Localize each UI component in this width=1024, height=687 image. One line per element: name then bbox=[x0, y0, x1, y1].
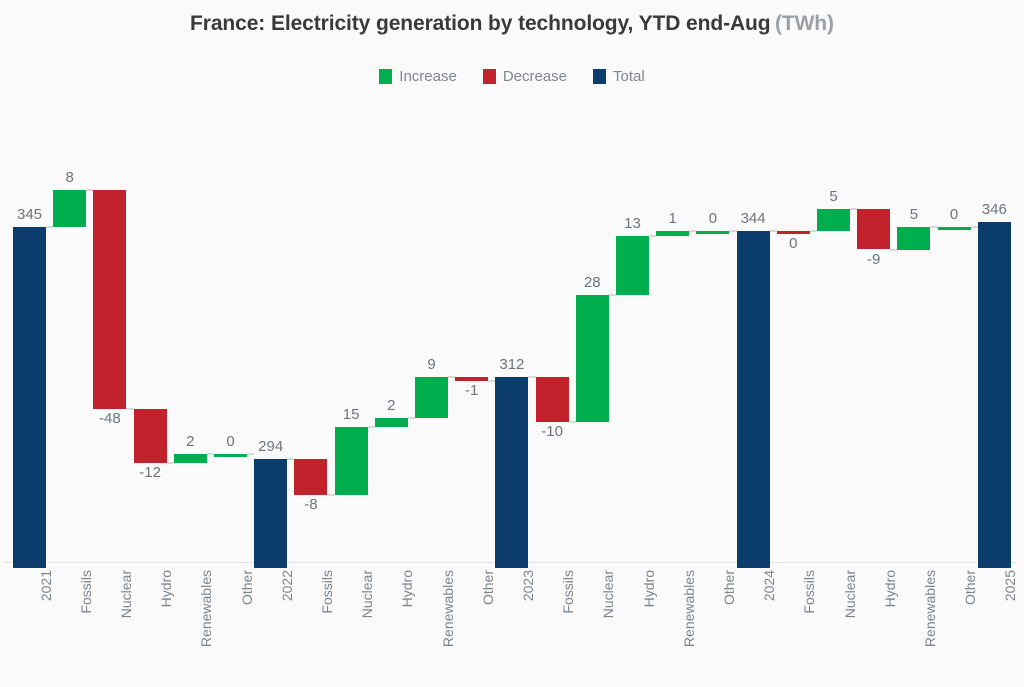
bar-2023-12[interactable] bbox=[495, 377, 528, 568]
value-label: -9 bbox=[843, 251, 904, 268]
value-label: 28 bbox=[562, 274, 623, 291]
x-tick-2021-0: 2021 bbox=[38, 570, 55, 687]
x-tick-2024-18: 2024 bbox=[761, 570, 778, 687]
bar-other-23[interactable] bbox=[938, 227, 971, 230]
x-tick-other-11: Other bbox=[480, 570, 497, 687]
bar-2025-24[interactable] bbox=[978, 222, 1011, 568]
waterfall-connector bbox=[890, 249, 897, 251]
value-label: 344 bbox=[723, 210, 784, 227]
waterfall-connector bbox=[649, 235, 656, 237]
x-tick-other-5: Other bbox=[239, 570, 256, 687]
x-tick-nuclear-8: Nuclear bbox=[359, 570, 376, 687]
waterfall-connector bbox=[46, 226, 53, 228]
bar-renewables-22[interactable] bbox=[897, 227, 930, 250]
waterfall-connector bbox=[448, 376, 455, 378]
x-tick-fossils-1: Fossils bbox=[78, 570, 95, 687]
bar-nuclear-8[interactable] bbox=[335, 427, 368, 495]
waterfall-connector bbox=[729, 230, 736, 232]
x-tick-renewables-22: Renewables bbox=[922, 570, 939, 687]
x-tick-fossils-13: Fossils bbox=[560, 570, 577, 687]
bar-other-11[interactable] bbox=[455, 377, 488, 382]
bar-2021-0[interactable] bbox=[13, 227, 46, 568]
bar-hydro-9[interactable] bbox=[375, 418, 408, 427]
waterfall-connector bbox=[528, 376, 535, 378]
value-label: 9 bbox=[401, 356, 462, 373]
value-label: -48 bbox=[79, 410, 140, 427]
waterfall-connector bbox=[770, 230, 777, 232]
value-label: 5 bbox=[803, 188, 864, 205]
bar-nuclear-2[interactable] bbox=[93, 190, 126, 408]
waterfall-connector bbox=[408, 417, 415, 419]
x-tick-hydro-21: Hydro bbox=[882, 570, 899, 687]
x-tick-other-23: Other bbox=[962, 570, 979, 687]
waterfall-connector bbox=[327, 494, 334, 496]
waterfall-connector bbox=[287, 458, 294, 460]
waterfall-connector bbox=[930, 226, 937, 228]
waterfall-connector bbox=[167, 462, 174, 464]
bar-fossils-7[interactable] bbox=[294, 459, 327, 495]
waterfall-connector bbox=[971, 226, 978, 228]
waterfall-connector bbox=[810, 230, 817, 232]
waterfall-connector bbox=[368, 426, 375, 428]
bar-2024-18[interactable] bbox=[737, 231, 770, 568]
value-label: 0 bbox=[763, 235, 824, 252]
x-tick-nuclear-20: Nuclear bbox=[842, 570, 859, 687]
x-tick-nuclear-14: Nuclear bbox=[600, 570, 617, 687]
waterfall-connector bbox=[247, 453, 254, 455]
x-tick-other-17: Other bbox=[721, 570, 738, 687]
x-tick-hydro-15: Hydro bbox=[641, 570, 658, 687]
x-tick-hydro-9: Hydro bbox=[399, 570, 416, 687]
waterfall-connector bbox=[850, 208, 857, 210]
bar-hydro-15[interactable] bbox=[616, 236, 649, 295]
plot-area: 3458-48-1220294-81529-1312-1028131034405… bbox=[0, 0, 1024, 575]
x-tick-2022-6: 2022 bbox=[279, 570, 296, 687]
value-label: 345 bbox=[0, 206, 60, 223]
waterfall-connector bbox=[207, 453, 214, 455]
x-tick-fossils-7: Fossils bbox=[319, 570, 336, 687]
bar-fossils-19[interactable] bbox=[777, 231, 810, 234]
waterfall-connector bbox=[126, 408, 133, 410]
bar-renewables-4[interactable] bbox=[174, 454, 207, 463]
bar-fossils-13[interactable] bbox=[536, 377, 569, 423]
value-label: -10 bbox=[522, 423, 583, 440]
waterfall-chart: France: Electricity generation by techno… bbox=[0, 0, 1024, 687]
waterfall-connector bbox=[86, 189, 93, 191]
x-tick-renewables-16: Renewables bbox=[681, 570, 698, 687]
waterfall-connector bbox=[488, 380, 495, 382]
x-tick-2023-12: 2023 bbox=[520, 570, 537, 687]
x-tick-fossils-19: Fossils bbox=[801, 570, 818, 687]
bar-nuclear-14[interactable] bbox=[576, 295, 609, 422]
waterfall-connector bbox=[569, 421, 576, 423]
value-label: 312 bbox=[481, 356, 542, 373]
value-label: -1 bbox=[441, 382, 502, 399]
x-tick-2025-24: 2025 bbox=[1002, 570, 1019, 687]
value-label: 346 bbox=[964, 201, 1024, 218]
value-label: 294 bbox=[240, 438, 301, 455]
value-label: 8 bbox=[39, 169, 100, 186]
waterfall-connector bbox=[609, 294, 616, 296]
x-axis-labels: 2021FossilsNuclearHydroRenewablesOther20… bbox=[0, 570, 1024, 687]
x-tick-renewables-10: Renewables bbox=[440, 570, 457, 687]
value-label: 2 bbox=[361, 397, 422, 414]
bar-other-17[interactable] bbox=[696, 231, 729, 234]
bar-2022-6[interactable] bbox=[254, 459, 287, 568]
waterfall-connector bbox=[689, 230, 696, 232]
bar-fossils-1[interactable] bbox=[53, 190, 86, 226]
bar-renewables-16[interactable] bbox=[656, 231, 689, 236]
x-tick-renewables-4: Renewables bbox=[198, 570, 215, 687]
x-tick-nuclear-2: Nuclear bbox=[118, 570, 135, 687]
value-label: -8 bbox=[280, 496, 341, 513]
bar-nuclear-20[interactable] bbox=[817, 209, 850, 232]
x-tick-hydro-3: Hydro bbox=[158, 570, 175, 687]
value-label: -12 bbox=[120, 464, 181, 481]
